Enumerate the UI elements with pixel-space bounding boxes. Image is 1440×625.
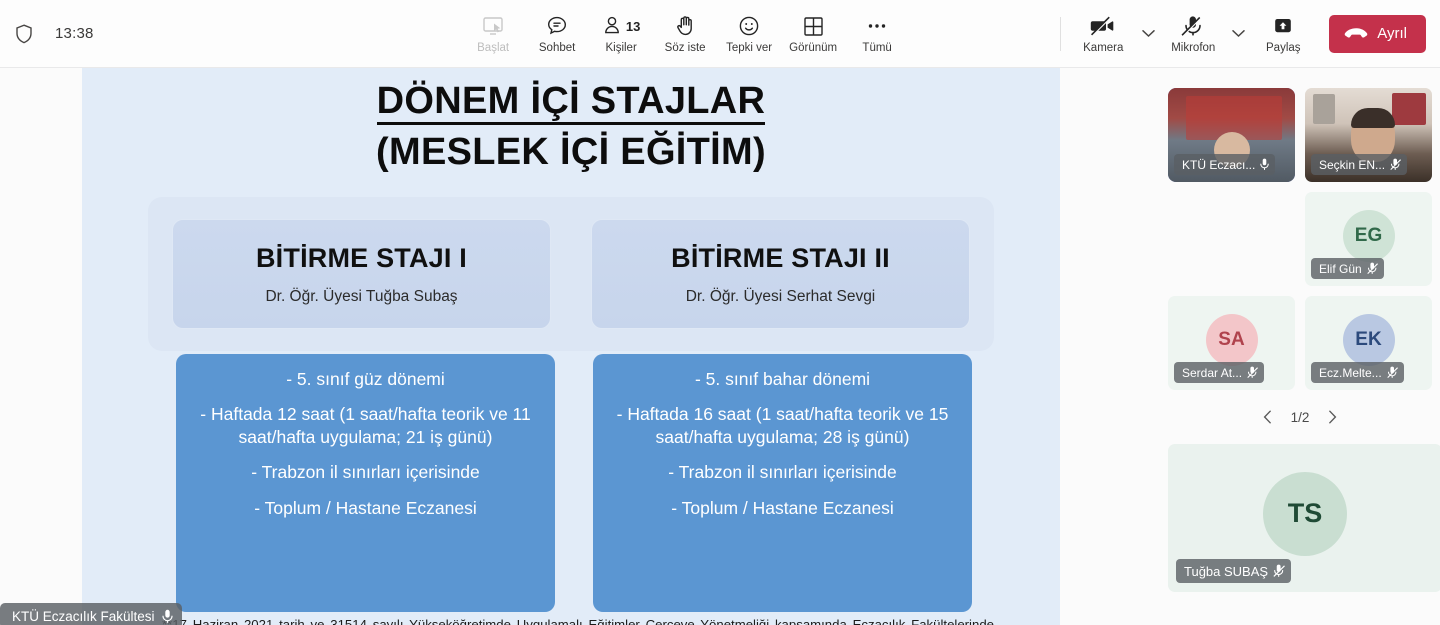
leave-button-label: Ayrıl xyxy=(1377,25,1407,42)
participant-name-chip: Ecz.Melte... xyxy=(1311,362,1404,383)
pager-label: 1/2 xyxy=(1291,410,1310,425)
clock-label: 13:38 xyxy=(55,25,94,42)
internship-header-title-2: BİTİRME STAJI II xyxy=(671,243,890,274)
avatar: EG xyxy=(1343,210,1395,262)
chevron-right-icon[interactable] xyxy=(1323,408,1341,426)
people-button-label: Kişiler xyxy=(605,42,636,54)
meeting-stage: DÖNEM İÇİ STAJLAR (MESLEK İÇİ EĞİTİM) Bİ… xyxy=(0,68,1160,625)
participant-name-label: KTÜ Eczacı... xyxy=(1182,158,1255,172)
participant-name-label: Serdar At... xyxy=(1182,366,1242,380)
detail-line: - Haftada 12 saat (1 saat/hafta teorik v… xyxy=(188,403,543,448)
reactions-button[interactable]: Tepki ver xyxy=(717,6,781,62)
hangup-phone-icon xyxy=(1344,27,1368,41)
raise-hand-icon xyxy=(673,13,697,39)
meeting-toolbar: 13:38 Başlat xyxy=(0,0,1440,68)
camera-button[interactable]: Kamera xyxy=(1071,6,1135,62)
microphone-button[interactable]: Mikrofon xyxy=(1161,6,1225,62)
teams-meeting-window: 13:38 Başlat xyxy=(0,0,1440,625)
shared-slide: DÖNEM İÇİ STAJLAR (MESLEK İÇİ EĞİTİM) Bİ… xyxy=(82,68,1060,625)
participant-tile-ktu-eczaci[interactable]: KTÜ Eczacı... xyxy=(1168,88,1295,182)
video-decor xyxy=(1313,94,1335,124)
toolbar-divider xyxy=(1060,17,1061,51)
chat-bubble-icon xyxy=(545,13,569,39)
microphone-off-icon xyxy=(1247,366,1258,379)
avatar-initials: TS xyxy=(1288,498,1323,529)
detail-line: - Trabzon il sınırları içerisinde xyxy=(668,461,897,483)
camera-chevron-down-icon[interactable] xyxy=(1135,14,1161,54)
internship-details-card-2: - 5. sınıf bahar dönemi - Haftada 16 saa… xyxy=(593,354,972,612)
participant-name-chip: Seçkin EN... xyxy=(1311,154,1407,175)
participant-row-2: EG Elif Gün xyxy=(1168,192,1432,286)
participant-name-chip: Tuğba SUBAŞ xyxy=(1176,559,1291,583)
view-button[interactable]: Görünüm xyxy=(781,6,845,62)
people-count-badge: 13 xyxy=(626,19,640,34)
present-button-label: Başlat xyxy=(477,42,509,54)
present-button[interactable]: Başlat xyxy=(461,6,525,62)
view-button-label: Görünüm xyxy=(789,42,837,54)
internship-header-subtitle-2: Dr. Öğr. Üyesi Serhat Sevgi xyxy=(686,288,876,306)
participant-name-label: Elif Gün xyxy=(1319,262,1362,276)
detail-line: - Toplum / Hastane Eczanesi xyxy=(671,497,893,519)
leave-button[interactable]: Ayrıl xyxy=(1329,15,1426,53)
participant-name-label: Tuğba SUBAŞ xyxy=(1184,564,1268,579)
detail-line: - 5. sınıf bahar dönemi xyxy=(695,368,870,390)
slide-content: DÖNEM İÇİ STAJLAR (MESLEK İÇİ EĞİTİM) Bİ… xyxy=(82,82,1060,625)
more-button[interactable]: Tümü xyxy=(845,6,909,62)
participant-name-label: Ecz.Melte... xyxy=(1319,366,1382,380)
microphone-off-icon xyxy=(1367,262,1378,275)
internship-header-card-2: BİTİRME STAJI II Dr. Öğr. Üyesi Serhat S… xyxy=(591,219,970,329)
video-decor xyxy=(1392,93,1426,125)
avatar-initials: SA xyxy=(1218,329,1244,351)
video-decor xyxy=(1351,108,1395,128)
microphone-chevron-down-icon[interactable] xyxy=(1225,14,1251,54)
participant-tile-elif-gun[interactable]: EG Elif Gün xyxy=(1305,192,1432,286)
raise-hand-button[interactable]: Söz iste xyxy=(653,6,717,62)
participant-name-chip: Elif Gün xyxy=(1311,258,1384,279)
microphone-off-icon xyxy=(1390,158,1401,171)
internship-header-title-1: BİTİRME STAJI I xyxy=(256,243,467,274)
detail-line: - 5. sınıf güz dönemi xyxy=(286,368,445,390)
chevron-left-icon[interactable] xyxy=(1259,408,1277,426)
internship-header-card-1: BİTİRME STAJI I Dr. Öğr. Üyesi Tuğba Sub… xyxy=(172,219,551,329)
grid-layout-icon xyxy=(802,13,825,39)
raise-hand-button-label: Söz iste xyxy=(665,42,706,54)
slide-title: DÖNEM İÇİ STAJLAR (MESLEK İÇİ EĞİTİM) xyxy=(82,82,1060,172)
participant-tile-tugba-subas[interactable]: TS Tuğba SUBAŞ xyxy=(1168,444,1440,592)
avatar-initials: EG xyxy=(1355,225,1382,247)
participant-name-label: Seçkin EN... xyxy=(1319,158,1385,172)
slide-footnote: **17 Haziran 2021 tarih ve 31514 sayılı … xyxy=(162,615,994,625)
microphone-off-icon xyxy=(1180,13,1206,39)
avatar-initials: EK xyxy=(1355,329,1381,351)
more-button-label: Tümü xyxy=(862,42,891,54)
participant-tile-empty xyxy=(1168,192,1295,286)
camera-off-icon xyxy=(1089,13,1117,39)
participant-row-3: SA Serdar At... EK xyxy=(1168,296,1432,390)
microphone-on-icon xyxy=(162,609,173,624)
present-screen-icon xyxy=(481,13,505,39)
smiley-face-icon xyxy=(737,13,761,39)
internship-details-card-1: - 5. sınıf güz dönemi - Haftada 12 saat … xyxy=(176,354,555,612)
participant-rail: KTÜ Eczacı... Seçki xyxy=(1160,68,1440,625)
participant-name-chip: KTÜ Eczacı... xyxy=(1174,154,1275,175)
chat-button-label: Sohbet xyxy=(539,42,575,54)
presenter-name-chip: KTÜ Eczacılık Fakültesi xyxy=(0,603,182,625)
detail-line: - Toplum / Hastane Eczanesi xyxy=(254,497,476,519)
chat-button[interactable]: Sohbet xyxy=(525,6,589,62)
detail-line: - Haftada 16 saat (1 saat/hafta teorik v… xyxy=(605,403,960,448)
avatar: SA xyxy=(1206,314,1258,366)
microphone-off-icon xyxy=(1387,366,1398,379)
reactions-button-label: Tepki ver xyxy=(726,42,772,54)
participant-tile-serdar-at[interactable]: SA Serdar At... xyxy=(1168,296,1295,390)
microphone-button-label: Mikrofon xyxy=(1171,42,1215,54)
shield-icon xyxy=(12,22,36,46)
participant-name-chip: Serdar At... xyxy=(1174,362,1264,383)
people-button[interactable]: 13 Kişiler xyxy=(589,6,653,62)
internship-header-subtitle-1: Dr. Öğr. Üyesi Tuğba Subaş xyxy=(265,288,457,306)
presenter-name-label: KTÜ Eczacılık Fakültesi xyxy=(12,609,155,624)
participant-tile-ecz-melte[interactable]: EK Ecz.Melte... xyxy=(1305,296,1432,390)
participant-row-1: KTÜ Eczacı... Seçki xyxy=(1168,88,1432,182)
toolbar-left-group: 13:38 xyxy=(0,22,300,46)
toolbar-center-group: Başlat Sohbet xyxy=(320,6,1050,62)
avatar: EK xyxy=(1343,314,1395,366)
share-button-label: Paylaş xyxy=(1266,42,1301,54)
internship-header-panel: BİTİRME STAJI I Dr. Öğr. Üyesi Tuğba Sub… xyxy=(148,197,994,351)
avatar: TS xyxy=(1263,472,1347,556)
share-button[interactable]: Paylaş xyxy=(1251,6,1315,62)
participant-pager: 1/2 xyxy=(1168,400,1432,434)
people-icon: 13 xyxy=(602,13,640,39)
participant-tile-seckin-en[interactable]: Seçkin EN... xyxy=(1305,88,1432,182)
more-ellipsis-icon xyxy=(864,13,890,39)
detail-line: - Trabzon il sınırları içerisinde xyxy=(251,461,480,483)
camera-button-label: Kamera xyxy=(1083,42,1123,54)
share-upload-icon xyxy=(1271,13,1295,39)
microphone-on-icon xyxy=(1260,158,1269,171)
slide-title-line2: (MESLEK İÇİ EĞİTİM) xyxy=(82,133,1060,172)
toolbar-right-group: Kamera Mikrofon xyxy=(1050,6,1440,62)
microphone-off-icon xyxy=(1273,564,1285,578)
slide-title-line1: DÖNEM İÇİ STAJLAR xyxy=(377,82,766,125)
